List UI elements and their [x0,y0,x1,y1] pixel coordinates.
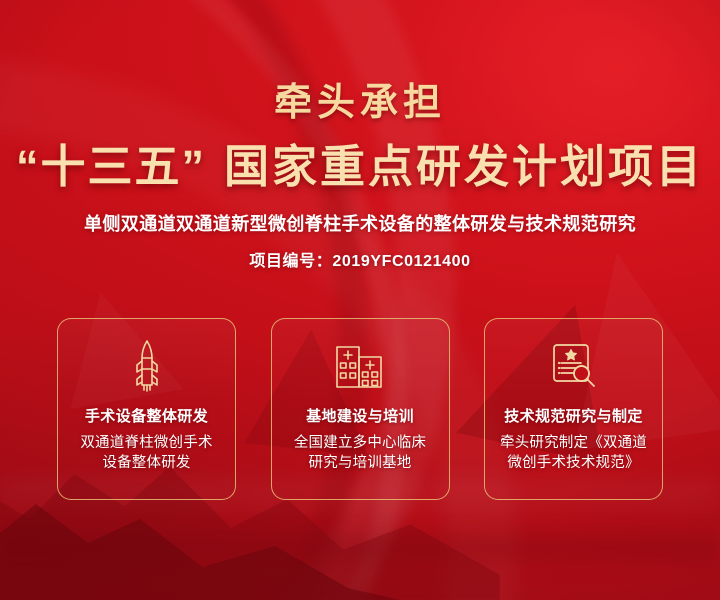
poster-root: 牵头承担 “十三五”国家重点研发计划项目 单侧双通道双通道新型微创脊柱手术设备的… [0,0,720,600]
feature-card-list: 手术设备整体研发 双通道脊柱微创手术 设备整体研发 [57,318,663,500]
certificate-search-icon [548,339,600,393]
headline-secondary-rest: 国家重点研发计划项目 [224,141,704,192]
desc-line-1: 全国建立多中心临床 [294,435,426,451]
project-subtitle: 单侧双通道双通道新型微创脊柱手术设备的整体研发与技术规范研究 [0,210,720,236]
desc-line-1: 双通道脊柱微创手术 [80,435,212,451]
headline-primary: 牵头承担 [0,84,720,122]
feature-card-equipment-rd[interactable]: 手术设备整体研发 双通道脊柱微创手术 设备整体研发 [57,318,236,500]
desc-line-2: 微创手术技术规范》 [507,455,639,471]
project-number: 项目编号：2019YFC0121400 [0,247,720,271]
poster-content: 牵头承担 “十三五”国家重点研发计划项目 单侧双通道双通道新型微创脊柱手术设备的… [0,0,720,600]
feature-card-standards[interactable]: 技术规范研究与制定 牵头研究制定《双通道 微创手术技术规范》 [484,318,663,500]
feature-card-title: 基地建设与培训 [306,405,414,426]
desc-line-2: 设备整体研发 [102,455,190,471]
feature-card-description: 全国建立多中心临床 研究与培训基地 [286,433,434,473]
hospital-icon [333,339,387,393]
feature-card-description: 牵头研究制定《双通道 微创手术技术规范》 [492,433,655,473]
feature-card-description: 双通道脊柱微创手术 设备整体研发 [72,433,220,473]
rocket-icon [127,339,167,393]
feature-card-title: 手术设备整体研发 [85,405,208,426]
headline-quoted-term: “十三五” [16,141,206,192]
headline-secondary: “十三五”国家重点研发计划项目 [0,140,720,193]
feature-card-title: 技术规范研究与制定 [504,405,643,426]
desc-line-1: 牵头研究制定《双通道 [500,435,647,451]
desc-line-2: 研究与培训基地 [309,455,412,471]
feature-card-base-training[interactable]: 基地建设与培训 全国建立多中心临床 研究与培训基地 [271,318,450,500]
